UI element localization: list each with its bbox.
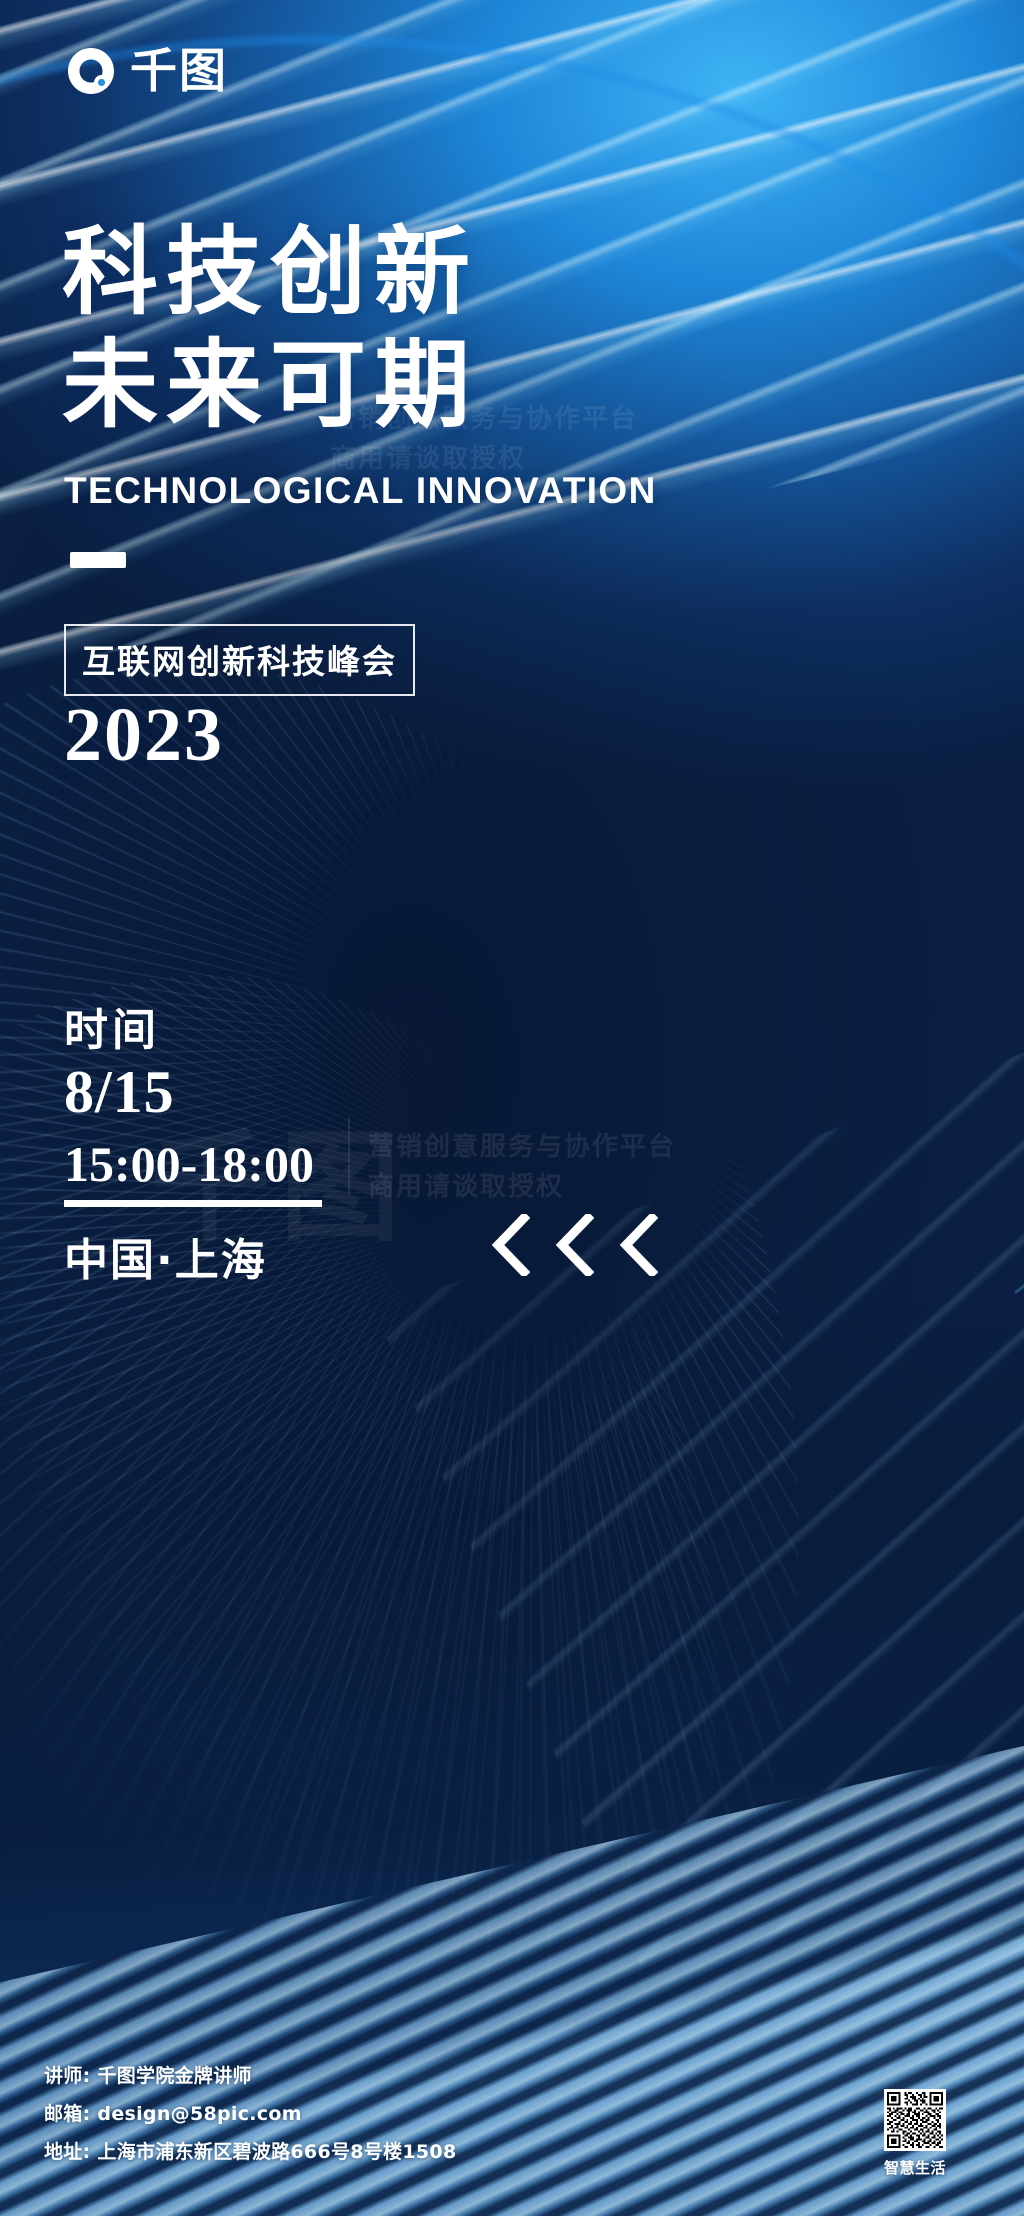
brand-logo-text: 千图 — [130, 48, 228, 95]
schedule-divider — [64, 1200, 322, 1207]
event-year: 2023 — [64, 692, 224, 779]
brand-logo[interactable]: 千图 — [64, 44, 228, 98]
summit-name-label: 互联网创新科技峰会 — [82, 642, 397, 681]
qr-code-block[interactable]: 智慧生活 — [884, 2089, 946, 2178]
footer-address: 地址: 上海市浦东新区碧波路666号8号楼1508 — [44, 2133, 456, 2171]
footer-email: 邮箱: design@58pic.com — [44, 2095, 456, 2133]
page-title: 科技创新 未来可期 — [62, 216, 478, 443]
accent-bar-divider — [70, 552, 126, 568]
event-location: 中国·上海 — [64, 1224, 267, 1288]
page-subtitle-english: TECHNOLOGICAL INNOVATION — [64, 470, 657, 512]
chevron-decoration-group — [486, 1214, 658, 1276]
event-date: 8/15 — [64, 1058, 175, 1127]
page-title-line-2: 未来可期 — [62, 329, 478, 442]
q-circle-logo-icon — [64, 44, 118, 98]
summit-name-badge: 互联网创新科技峰会 — [64, 624, 415, 696]
footer-speaker: 讲师: 千图学院金牌讲师 — [44, 2057, 456, 2095]
chevron-left-icon — [486, 1214, 530, 1276]
poster-content: 千图 科技创新 未来可期 TECHNOLOGICAL INNOVATION 互联… — [0, 0, 1024, 2216]
event-time-range: 15:00-18:00 — [64, 1135, 314, 1193]
time-section-label: 时间 — [64, 994, 160, 1058]
poster-canvas: 营销创意服务与协作平台 商用请谈取授权 千图 营销创意服务与协作平台 商用请谈取… — [0, 0, 1024, 2216]
qr-code-icon — [884, 2089, 946, 2151]
page-title-line-1: 科技创新 — [62, 216, 478, 329]
chevron-left-icon — [550, 1214, 594, 1276]
footer-contact-block: 讲师: 千图学院金牌讲师 邮箱: design@58pic.com 地址: 上海… — [44, 2057, 456, 2171]
chevron-left-icon — [614, 1214, 658, 1276]
qr-code-caption: 智慧生活 — [884, 2157, 946, 2178]
